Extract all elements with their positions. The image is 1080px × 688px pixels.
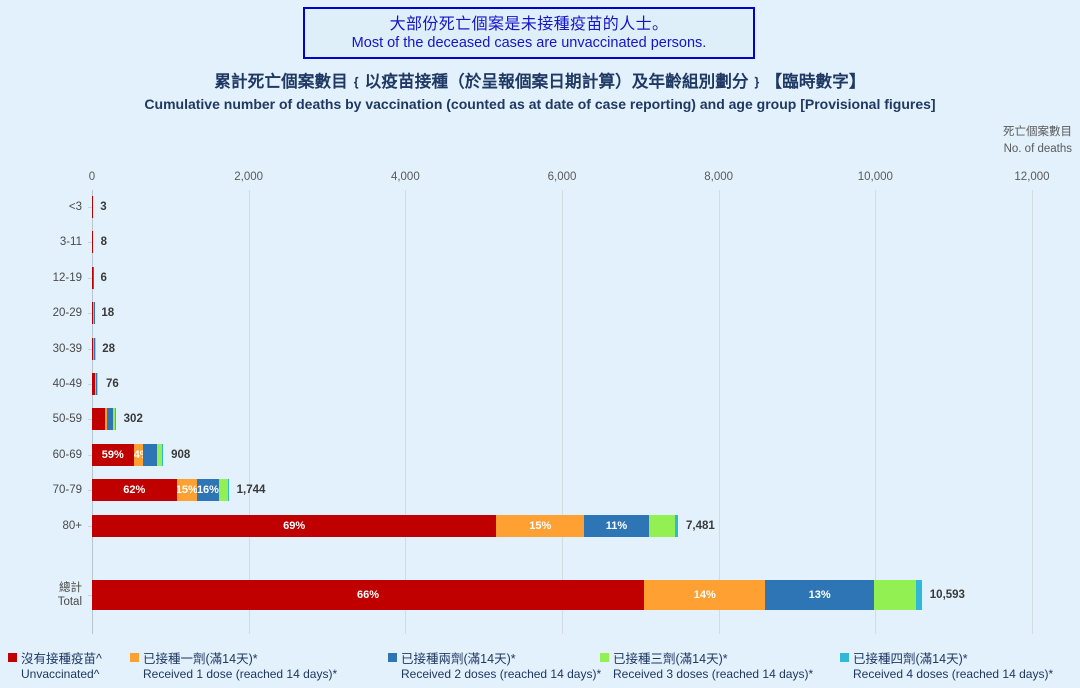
bar-segment[interactable] bbox=[228, 479, 229, 501]
legend-label-zh: 已接種三劑(滿14天)* bbox=[613, 648, 728, 667]
stacked-bar[interactable]: 59%14% bbox=[92, 444, 163, 466]
chart-row: 30-3928 bbox=[92, 338, 1032, 360]
legend-color-swatch-icon bbox=[130, 653, 139, 662]
chart-row: 80+69%15%11%7,481 bbox=[92, 515, 1032, 537]
chart-row: 60-6959%14%908 bbox=[92, 444, 1032, 466]
x-axis-tick-label: 4,000 bbox=[391, 171, 420, 183]
stacked-bar[interactable]: 66%14%13% bbox=[92, 580, 922, 610]
legend-label-en: Received 3 doses (reached 14 days)* bbox=[613, 667, 813, 681]
bar-total-label: 7,481 bbox=[686, 520, 715, 532]
legend-item[interactable]: 已接種一劑(滿14天)*Received 1 dose (reached 14 … bbox=[130, 648, 337, 681]
bar-segment[interactable] bbox=[162, 444, 163, 466]
x-axis-unit-label: 死亡個案數目 No. of deaths bbox=[1003, 124, 1072, 158]
category-label: 30-39 bbox=[53, 342, 82, 356]
bar-segment[interactable] bbox=[95, 338, 96, 360]
callout-banner: 大部份死亡個案是未接種疫苗的人士。 Most of the deceased c… bbox=[303, 7, 755, 59]
x-axis-unit-en: No. of deaths bbox=[1003, 141, 1072, 158]
legend-label-zh: 已接種一劑(滿14天)* bbox=[143, 648, 258, 667]
legend-label-en: Received 4 doses (reached 14 days)* bbox=[853, 667, 1053, 681]
legend-item[interactable]: 沒有接種疫苗^Unvaccinated^ bbox=[8, 648, 102, 681]
bar-total-label: 3 bbox=[100, 201, 106, 213]
bar-segment[interactable] bbox=[97, 373, 98, 395]
chart-row: 3-118 bbox=[92, 231, 1032, 253]
x-axis-tick-label: 8,000 bbox=[704, 171, 733, 183]
category-label: 70-79 bbox=[53, 483, 82, 497]
bar-segment[interactable] bbox=[94, 302, 95, 324]
bar-segment[interactable]: 16% bbox=[197, 479, 219, 501]
stacked-bar[interactable] bbox=[92, 373, 98, 395]
stacked-bar[interactable] bbox=[92, 408, 116, 430]
x-axis-tick-label: 12,000 bbox=[1014, 171, 1049, 183]
category-label: <3 bbox=[69, 200, 82, 214]
legend-label-en: Received 2 doses (reached 14 days)* bbox=[401, 667, 601, 681]
stacked-bar[interactable] bbox=[92, 302, 93, 324]
category-label: 80+ bbox=[62, 519, 82, 533]
chart-row-total: 總計 Total66%14%13%10,593 bbox=[92, 580, 1032, 610]
legend-color-swatch-icon bbox=[388, 653, 397, 662]
stacked-bar[interactable]: 69%15%11% bbox=[92, 515, 678, 537]
bar-segment[interactable]: 14% bbox=[644, 580, 765, 610]
chart-row: 40-4976 bbox=[92, 373, 1032, 395]
category-label: 50-59 bbox=[53, 412, 82, 426]
stacked-bar[interactable]: 62%15%16% bbox=[92, 479, 229, 501]
bar-segment[interactable] bbox=[649, 515, 675, 537]
bar-segment[interactable]: 62% bbox=[92, 479, 177, 501]
callout-text-en: Most of the deceased cases are unvaccina… bbox=[352, 34, 707, 52]
bar-segment[interactable] bbox=[92, 408, 105, 430]
bar-segment[interactable]: 59% bbox=[92, 444, 134, 466]
x-axis-unit-zh: 死亡個案數目 bbox=[1003, 124, 1072, 141]
legend-item[interactable]: 已接種三劑(滿14天)*Received 3 doses (reached 14… bbox=[600, 648, 813, 681]
chart-plot-area: 02,0004,0006,0008,00010,00012,000<333-11… bbox=[92, 190, 1032, 634]
bar-total-label: 8 bbox=[101, 236, 107, 248]
x-axis-tick-label: 6,000 bbox=[548, 171, 577, 183]
bar-total-label: 6 bbox=[100, 272, 106, 284]
category-label: 60-69 bbox=[53, 448, 82, 462]
chart-row: 20-2918 bbox=[92, 302, 1032, 324]
legend-color-swatch-icon bbox=[600, 653, 609, 662]
bar-segment[interactable]: 13% bbox=[765, 580, 873, 610]
legend-label-en: Received 1 dose (reached 14 days)* bbox=[143, 667, 337, 681]
legend-item[interactable]: 已接種兩劑(滿14天)*Received 2 doses (reached 14… bbox=[388, 648, 601, 681]
callout-text-zh: 大部份死亡個案是未接種疫苗的人士。 bbox=[390, 15, 669, 34]
bar-segment[interactable]: 14% bbox=[134, 444, 144, 466]
chart-title-zh: 累計死亡個案數目﹛以疫苗接種（於呈報個案日期計算）及年齡組別劃分﹜【臨時數字】 bbox=[0, 70, 1080, 94]
page-title: 累計死亡個案數目﹛以疫苗接種（於呈報個案日期計算）及年齡組別劃分﹜【臨時數字】 … bbox=[0, 70, 1080, 114]
bar-total-label: 302 bbox=[124, 413, 143, 425]
category-label: 總計 Total bbox=[58, 581, 82, 609]
legend-label-zh: 已接種四劑(滿14天)* bbox=[853, 648, 968, 667]
x-axis-tick-label: 0 bbox=[89, 171, 95, 183]
legend-color-swatch-icon bbox=[8, 653, 17, 662]
bar-total-label: 76 bbox=[106, 378, 119, 390]
category-label: 3-11 bbox=[60, 235, 82, 249]
bar-segment[interactable]: 69% bbox=[92, 515, 496, 537]
bar-segment[interactable] bbox=[143, 444, 157, 466]
legend-label-zh: 已接種兩劑(滿14天)* bbox=[401, 648, 516, 667]
stacked-bar[interactable] bbox=[92, 231, 93, 253]
bar-segment[interactable] bbox=[219, 479, 228, 501]
bar-total-label: 908 bbox=[171, 449, 190, 461]
bar-segment[interactable] bbox=[115, 408, 116, 430]
stacked-bar[interactable] bbox=[92, 338, 94, 360]
legend-color-swatch-icon bbox=[840, 653, 849, 662]
bar-segment[interactable]: 66% bbox=[92, 580, 644, 610]
x-axis-tick-label: 10,000 bbox=[858, 171, 893, 183]
bar-segment[interactable] bbox=[92, 196, 93, 218]
bar-segment[interactable] bbox=[916, 580, 921, 610]
category-label: 20-29 bbox=[53, 306, 82, 320]
bar-total-label: 1,744 bbox=[237, 484, 266, 496]
legend-label-en: Unvaccinated^ bbox=[21, 667, 102, 681]
chart-title-en: Cumulative number of deaths by vaccinati… bbox=[0, 94, 1080, 114]
bar-segment[interactable] bbox=[92, 231, 93, 253]
bar-total-label: 10,593 bbox=[930, 589, 965, 601]
gridline bbox=[1032, 190, 1033, 634]
bar-segment[interactable] bbox=[675, 515, 678, 537]
bar-segment[interactable]: 11% bbox=[584, 515, 648, 537]
bar-segment[interactable]: 15% bbox=[496, 515, 584, 537]
legend-item[interactable]: 已接種四劑(滿14天)*Received 4 doses (reached 14… bbox=[840, 648, 1053, 681]
legend-label-zh: 沒有接種疫苗^ bbox=[21, 648, 102, 667]
category-label: 40-49 bbox=[53, 377, 82, 391]
bar-total-label: 28 bbox=[102, 343, 115, 355]
x-axis-tick-label: 2,000 bbox=[234, 171, 263, 183]
chart-row: 70-7962%15%16%1,744 bbox=[92, 479, 1032, 501]
bar-segment[interactable] bbox=[93, 267, 94, 289]
chart-row: 12-196 bbox=[92, 267, 1032, 289]
chart-row: 50-59302 bbox=[92, 408, 1032, 430]
chart-legend: 沒有接種疫苗^Unvaccinated^已接種一劑(滿14天)*Received… bbox=[0, 648, 1080, 688]
bar-segment[interactable]: 15% bbox=[177, 479, 197, 501]
bar-segment[interactable] bbox=[874, 580, 916, 610]
bar-total-label: 18 bbox=[101, 307, 114, 319]
category-label: 12-19 bbox=[53, 271, 82, 285]
chart-row: <33 bbox=[92, 196, 1032, 218]
